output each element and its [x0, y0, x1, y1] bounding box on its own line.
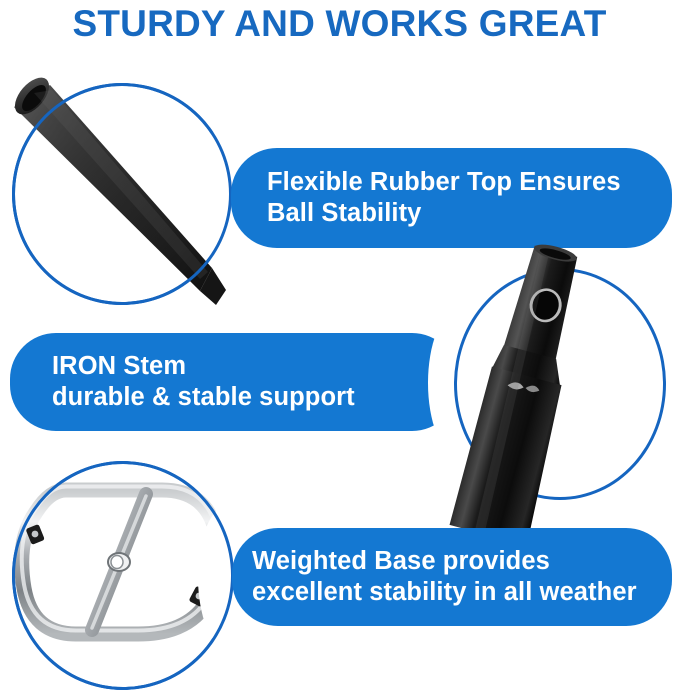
- page-title: STURDY AND WORKS GREAT: [0, 2, 679, 46]
- feature-circle-iron-stem: [454, 268, 666, 500]
- feature-banner-iron-stem[interactable]: IRON Stem durable & stable support: [10, 333, 458, 431]
- feature-banner-line2: durable & stable support: [52, 382, 458, 413]
- feature-banner-line1: Flexible Rubber Top Ensures: [267, 167, 672, 198]
- feature-circle-weighted-base-outline: [12, 461, 234, 690]
- feature-banner-line1: Weighted Base provides: [252, 546, 672, 577]
- feature-banner-rubber-top[interactable]: Flexible Rubber Top Ensures Ball Stabili…: [231, 148, 672, 248]
- feature-banner-weighted-base[interactable]: Weighted Base provides excellent stabili…: [232, 528, 672, 626]
- feature-banner-line1: IRON Stem: [52, 351, 458, 382]
- feature-banner-line2: excellent stability in all weather: [252, 577, 672, 608]
- feature-circle-rubber-top-outline: [12, 83, 232, 305]
- infographic-canvas: STURDY AND WORKS GREAT: [0, 0, 679, 697]
- feature-banner-line2: Ball Stability: [267, 198, 672, 229]
